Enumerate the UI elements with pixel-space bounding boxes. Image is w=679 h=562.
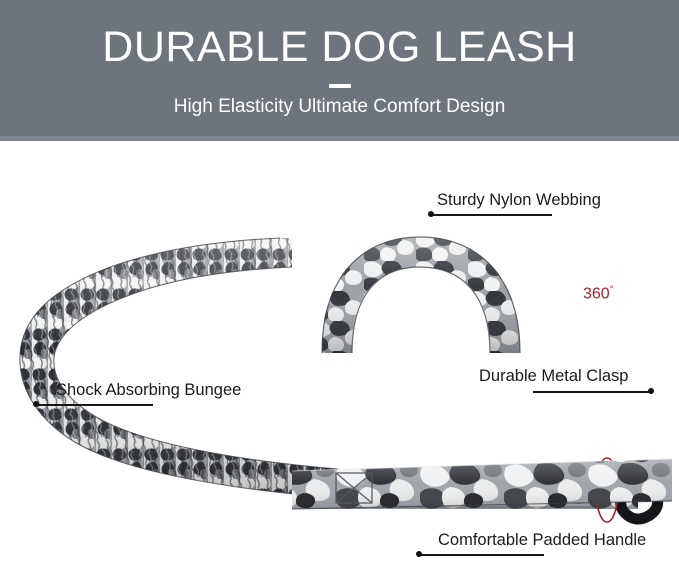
degree-symbol: ° xyxy=(610,284,614,294)
callout-dot-comfortable-padded-handle xyxy=(416,551,422,557)
page-title: DURABLE DOG LEASH xyxy=(0,22,679,72)
page-subtitle: High Elasticity Ultimate Comfort Design xyxy=(0,94,679,120)
callout-dot-sturdy-nylon-webbing xyxy=(428,211,434,217)
callout-label-sturdy-nylon-webbing: Sturdy Nylon Webbing xyxy=(437,190,601,210)
callout-label-shock-absorbing-bungee: Shock Absorbing Bungee xyxy=(56,380,241,400)
callout-label-comfortable-padded-handle: Comfortable Padded Handle xyxy=(438,530,646,550)
callout-leader-comfortable-padded-handle xyxy=(420,554,544,556)
callout-dot-durable-metal-clasp xyxy=(648,388,654,394)
callout-dot-shock-absorbing-bungee xyxy=(33,401,39,407)
swivel-360-value: 360 xyxy=(583,285,610,302)
callout-leader-durable-metal-clasp xyxy=(533,391,651,393)
swivel-360-badge: 360° xyxy=(583,280,613,303)
callout-leader-sturdy-nylon-webbing xyxy=(432,214,552,216)
title-divider xyxy=(329,84,351,88)
callout-leader-shock-absorbing-bungee xyxy=(36,404,153,406)
header-banner: DURABLE DOG LEASH High Elasticity Ultima… xyxy=(0,0,679,141)
callout-label-durable-metal-clasp: Durable Metal Clasp xyxy=(479,366,628,386)
sturdy-nylon-webbing-part xyxy=(310,227,536,361)
